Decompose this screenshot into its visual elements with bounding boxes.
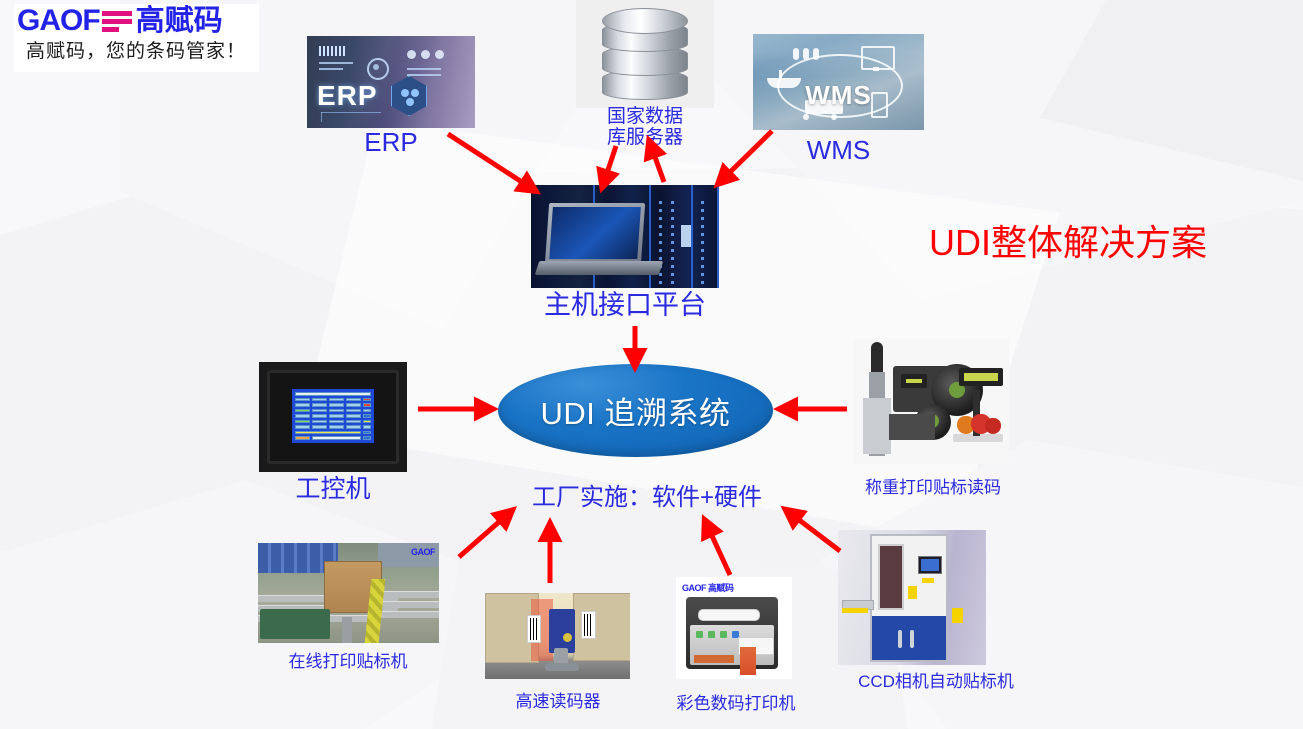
central-node-udi-system[interactable]: UDI 追溯系统 [498,364,773,457]
node-label-online-print-labeller: 在线打印贴标机 [250,652,446,671]
node-label-national-database-server: 国家数据 库服务器 [576,106,714,149]
brand-logo: GAOF 高赋码 高赋码，您的条码管家！ [14,4,259,72]
node-image-host-interface-platform [531,185,719,288]
erp-image-caption: ERP [317,80,378,112]
logo-wordmark-row: GAOF 高赋码 [14,4,259,38]
node-image-wms: WMS [753,34,924,130]
database-icon [602,8,688,100]
watermark-text: GAOF 高赋码 [682,581,734,594]
node-image-online-print-labeller: GAOF [258,543,439,643]
page-title: UDI整体解决方案 [929,214,1207,266]
central-node-label: UDI 追溯系统 [541,388,731,433]
node-label-erp: ERP [307,128,475,157]
node-label-color-digital-printer: 彩色数码打印机 [660,694,812,713]
logo-latin-text: GAOF [17,6,100,36]
logo-tagline: 高赋码，您的条码管家！ [14,38,259,66]
node-image-weighing-print-label-reader [853,338,1009,464]
node-image-color-digital-printer: GAOF 高赋码 [676,577,792,679]
wms-image-caption: WMS [805,80,872,111]
node-image-industrial-control-computer [259,362,407,472]
hmi-screen [292,389,374,443]
node-image-ccd-auto-labeller [838,530,986,665]
node-image-national-database-server [576,0,714,108]
node-label-wms: WMS [753,136,924,165]
node-label-high-speed-code-reader: 高速读码器 [478,692,638,711]
node-label-weighing-print-label-reader: 称重打印贴标读码 [838,478,1028,497]
barcode-icon [102,11,132,32]
slide-canvas: GAOF 高赋码 高赋码，您的条码管家！ UDI整体解决方案 ERP ERP [0,0,1303,729]
node-label-host-interface-platform: 主机接口平台 [521,290,729,320]
laptop-icon [545,203,645,265]
node-image-erp: ERP [307,36,475,128]
logo-chinese-text: 高赋码 [136,6,223,36]
image-watermark: GAOF [411,547,435,557]
image-watermark-printer: GAOF 高赋码 [682,581,734,594]
node-label-ccd-auto-labeller: CCD相机自动贴标机 [838,672,1034,691]
node-image-high-speed-code-reader [485,593,630,679]
section-label-factory-implementation: 工厂实施：软件+硬件 [497,485,797,512]
node-label-industrial-control-computer: 工控机 [259,475,407,503]
